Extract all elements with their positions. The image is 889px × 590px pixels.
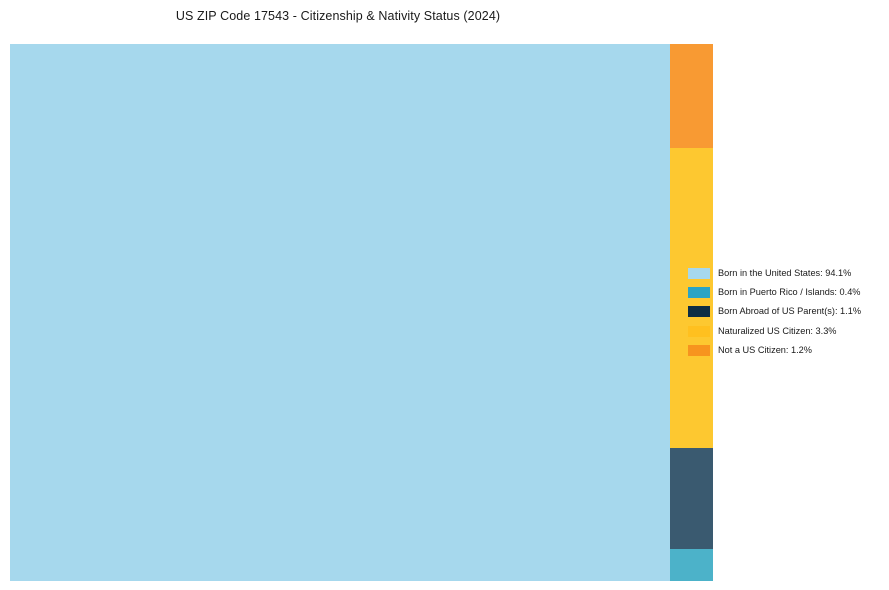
treemap-plot-area bbox=[10, 44, 670, 581]
chart-legend: Born in the United States: 94.1% Born in… bbox=[688, 264, 883, 360]
legend-swatch-icon-born-in-united-states bbox=[688, 268, 710, 279]
legend-swatch-icon-not-a-us-citizen bbox=[688, 345, 710, 356]
legend-item-born-abroad-of-us-parents[interactable]: Born Abroad of US Parent(s): 1.1% bbox=[688, 302, 883, 321]
treemap-figure: US ZIP Code 17543 - Citizenship & Nativi… bbox=[0, 0, 889, 590]
treemap-tile-born-abroad-of-us-parents[interactable] bbox=[670, 448, 713, 549]
legend-swatch-icon-born-abroad-of-us-parents bbox=[688, 306, 710, 317]
legend-label-naturalized-us-citizen: Naturalized US Citizen: 3.3% bbox=[718, 326, 836, 337]
legend-label-not-a-us-citizen: Not a US Citizen: 1.2% bbox=[718, 345, 812, 356]
legend-label-born-abroad-of-us-parents: Born Abroad of US Parent(s): 1.1% bbox=[718, 306, 861, 317]
treemap-tile-not-a-us-citizen[interactable] bbox=[670, 44, 713, 148]
legend-item-born-in-puerto-rico-islands[interactable]: Born in Puerto Rico / Islands: 0.4% bbox=[688, 283, 883, 302]
legend-swatch-icon-naturalized-us-citizen bbox=[688, 326, 710, 337]
legend-item-not-a-us-citizen[interactable]: Not a US Citizen: 1.2% bbox=[688, 341, 883, 360]
treemap-tile-born-in-united-states[interactable] bbox=[10, 44, 670, 581]
chart-title: US ZIP Code 17543 - Citizenship & Nativi… bbox=[0, 9, 676, 24]
legend-label-born-in-puerto-rico-islands: Born in Puerto Rico / Islands: 0.4% bbox=[718, 287, 860, 298]
treemap-tile-born-in-puerto-rico-islands[interactable] bbox=[670, 549, 713, 581]
legend-swatch-icon-born-in-puerto-rico-islands bbox=[688, 287, 710, 298]
legend-item-naturalized-us-citizen[interactable]: Naturalized US Citizen: 3.3% bbox=[688, 322, 883, 341]
legend-label-born-in-united-states: Born in the United States: 94.1% bbox=[718, 268, 851, 279]
legend-item-born-in-united-states[interactable]: Born in the United States: 94.1% bbox=[688, 264, 883, 283]
